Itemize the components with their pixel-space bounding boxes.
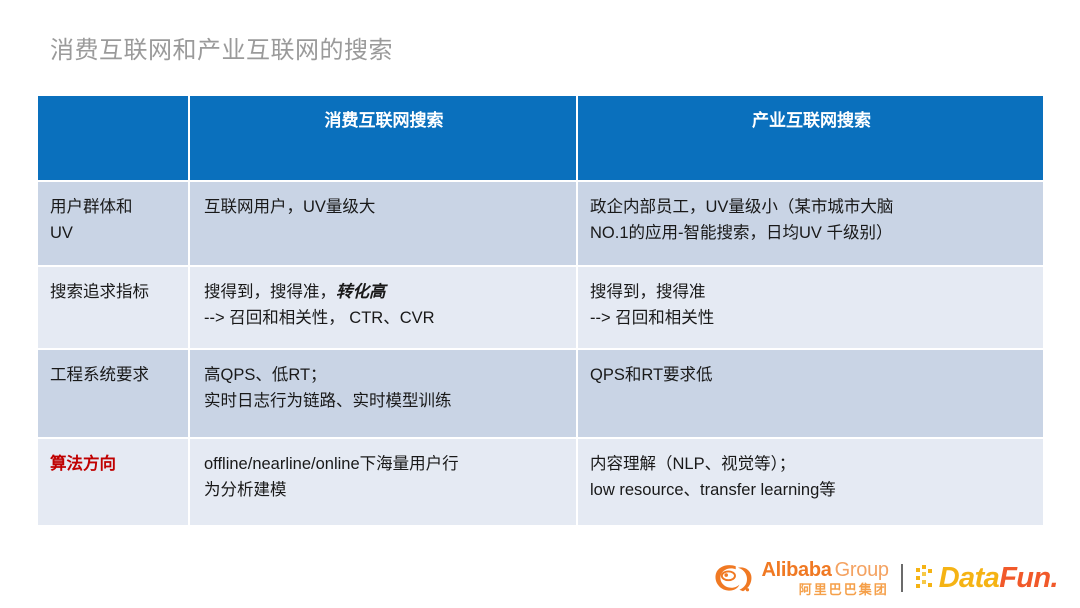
cell-line: 政企内部员工，UV量级小（某市城市大脑 — [590, 194, 1029, 220]
comparison-table: 消费互联网搜索 产业互联网搜索 用户群体和 UV 互联网用户，UV量级 — [38, 96, 1043, 525]
row-label-users: 用户群体和 UV — [38, 182, 188, 260]
alibaba-name-en-wrap: AlibabaGroup — [761, 560, 888, 580]
table-cell-industrial: QPS和RT要求低 — [578, 348, 1043, 437]
cell-line: 实时日志行为链路、实时模型训练 — [204, 388, 562, 414]
cell-consumer-metrics: 搜得到，搜得准，转化高 --> 召回和相关性， CTR、CVR — [190, 267, 576, 345]
row-label-line-1: 算法方向 — [50, 451, 174, 477]
cell-line: 内容理解（NLP、视觉等）； — [590, 451, 1029, 477]
cell-emphasis: 转化高 — [336, 283, 386, 301]
row-label-line-1: 工程系统要求 — [50, 362, 174, 388]
footer-logos: AlibabaGroup 阿里巴巴集团 DataFun. — [713, 556, 1058, 600]
table-header-label-empty — [38, 96, 188, 110]
row-label-algorithm: 算法方向 — [38, 439, 188, 491]
cell-industrial-metrics: 搜得到，搜得准 --> 召回和相关性 — [578, 267, 1043, 345]
table-header-row: 消费互联网搜索 产业互联网搜索 — [38, 96, 1043, 180]
datafun-dots-icon — [915, 564, 937, 592]
table-cell-consumer: 搜得到，搜得准，转化高 --> 召回和相关性， CTR、CVR — [190, 265, 578, 348]
table-header-label-consumer: 消费互联网搜索 — [190, 96, 576, 132]
table-cell-label: 搜索追求指标 — [38, 265, 190, 348]
cell-consumer-users: 互联网用户，UV量级大 — [190, 182, 576, 234]
cell-industrial-algorithm: 内容理解（NLP、视觉等）； low resource、transfer lea… — [578, 439, 1043, 517]
alibaba-wordmark: AlibabaGroup 阿里巴巴集团 — [761, 560, 888, 596]
alibaba-name-en: Alibaba — [761, 559, 831, 581]
cell-line: 高QPS、低RT； — [204, 362, 562, 388]
datafun-wordmark: DataFun. — [939, 564, 1058, 593]
cell-line: offline/nearline/online下海量用户行 — [204, 451, 562, 477]
row-label-line-2: UV — [50, 220, 174, 246]
row-label-line-1: 用户群体和 — [50, 194, 174, 220]
cell-line: 搜得到，搜得准 — [590, 279, 1029, 305]
table-cell-industrial: 搜得到，搜得准 --> 召回和相关性 — [578, 265, 1043, 348]
logo-divider — [901, 564, 903, 592]
cell-industrial-users: 政企内部员工，UV量级小（某市城市大脑 NO.1的应用-智能搜索，日均UV 千级… — [578, 182, 1043, 260]
cell-line: --> 召回和相关性 — [590, 305, 1029, 331]
cell-line: 互联网用户，UV量级大 — [204, 194, 562, 220]
table-row: 工程系统要求 高QPS、低RT； 实时日志行为链路、实时模型训练 QPS和RT要… — [38, 348, 1043, 437]
table-cell-label: 用户群体和 UV — [38, 180, 190, 265]
table-cell-industrial: 内容理解（NLP、视觉等）； low resource、transfer lea… — [578, 437, 1043, 525]
table-cell-label: 算法方向 — [38, 437, 190, 525]
alibaba-group-en: Group — [835, 559, 889, 581]
row-label-metrics: 搜索追求指标 — [38, 267, 188, 319]
table-header-cell-consumer: 消费互联网搜索 — [190, 96, 578, 180]
cell-line: 搜得到，搜得准，转化高 — [204, 279, 562, 305]
page-title: 消费互联网和产业互联网的搜索 — [50, 34, 393, 68]
cell-line: QPS和RT要求低 — [590, 362, 1029, 388]
slide-canvas: 消费互联网和产业互联网的搜索 消费互联网搜索 产业互联网搜索 — [0, 0, 1080, 608]
row-label-engineering: 工程系统要求 — [38, 350, 188, 402]
cell-consumer-algorithm: offline/nearline/online下海量用户行 为分析建模 — [190, 439, 576, 517]
table-header-cell-industrial: 产业互联网搜索 — [578, 96, 1043, 180]
table-cell-industrial: 政企内部员工，UV量级小（某市城市大脑 NO.1的应用-智能搜索，日均UV 千级… — [578, 180, 1043, 265]
table-row: 算法方向 offline/nearline/online下海量用户行 为分析建模… — [38, 437, 1043, 525]
table-row: 搜索追求指标 搜得到，搜得准，转化高 --> 召回和相关性， CTR、CVR 搜… — [38, 265, 1043, 348]
cell-line: --> 召回和相关性， CTR、CVR — [204, 305, 562, 331]
table-header-cell-empty — [38, 96, 190, 180]
cell-consumer-engineering: 高QPS、低RT； 实时日志行为链路、实时模型训练 — [190, 350, 576, 428]
cell-line: NO.1的应用-智能搜索，日均UV 千级别） — [590, 220, 1029, 246]
alibaba-smiley-mark-icon — [713, 561, 757, 595]
datafun-part-fun: Fun. — [999, 562, 1058, 594]
table-row: 用户群体和 UV 互联网用户，UV量级大 政企内部员工，UV量级小（某市城市大脑… — [38, 180, 1043, 265]
cell-text: 搜得到，搜得准， — [204, 283, 336, 301]
row-label-line-1: 搜索追求指标 — [50, 279, 174, 305]
table-cell-consumer: 高QPS、低RT； 实时日志行为链路、实时模型训练 — [190, 348, 578, 437]
datafun-part-data: Data — [939, 562, 999, 594]
table-header-label-industrial: 产业互联网搜索 — [578, 96, 1043, 132]
alibaba-group-logo: AlibabaGroup 阿里巴巴集团 — [713, 560, 888, 596]
table-cell-consumer: 互联网用户，UV量级大 — [190, 180, 578, 265]
table-cell-label: 工程系统要求 — [38, 348, 190, 437]
datafun-logo: DataFun. — [915, 564, 1058, 593]
cell-industrial-engineering: QPS和RT要求低 — [578, 350, 1043, 402]
cell-line: low resource、transfer learning等 — [590, 477, 1029, 503]
alibaba-name-cn: 阿里巴巴集团 — [761, 583, 888, 596]
table-cell-consumer: offline/nearline/online下海量用户行 为分析建模 — [190, 437, 578, 525]
cell-line: 为分析建模 — [204, 477, 562, 503]
